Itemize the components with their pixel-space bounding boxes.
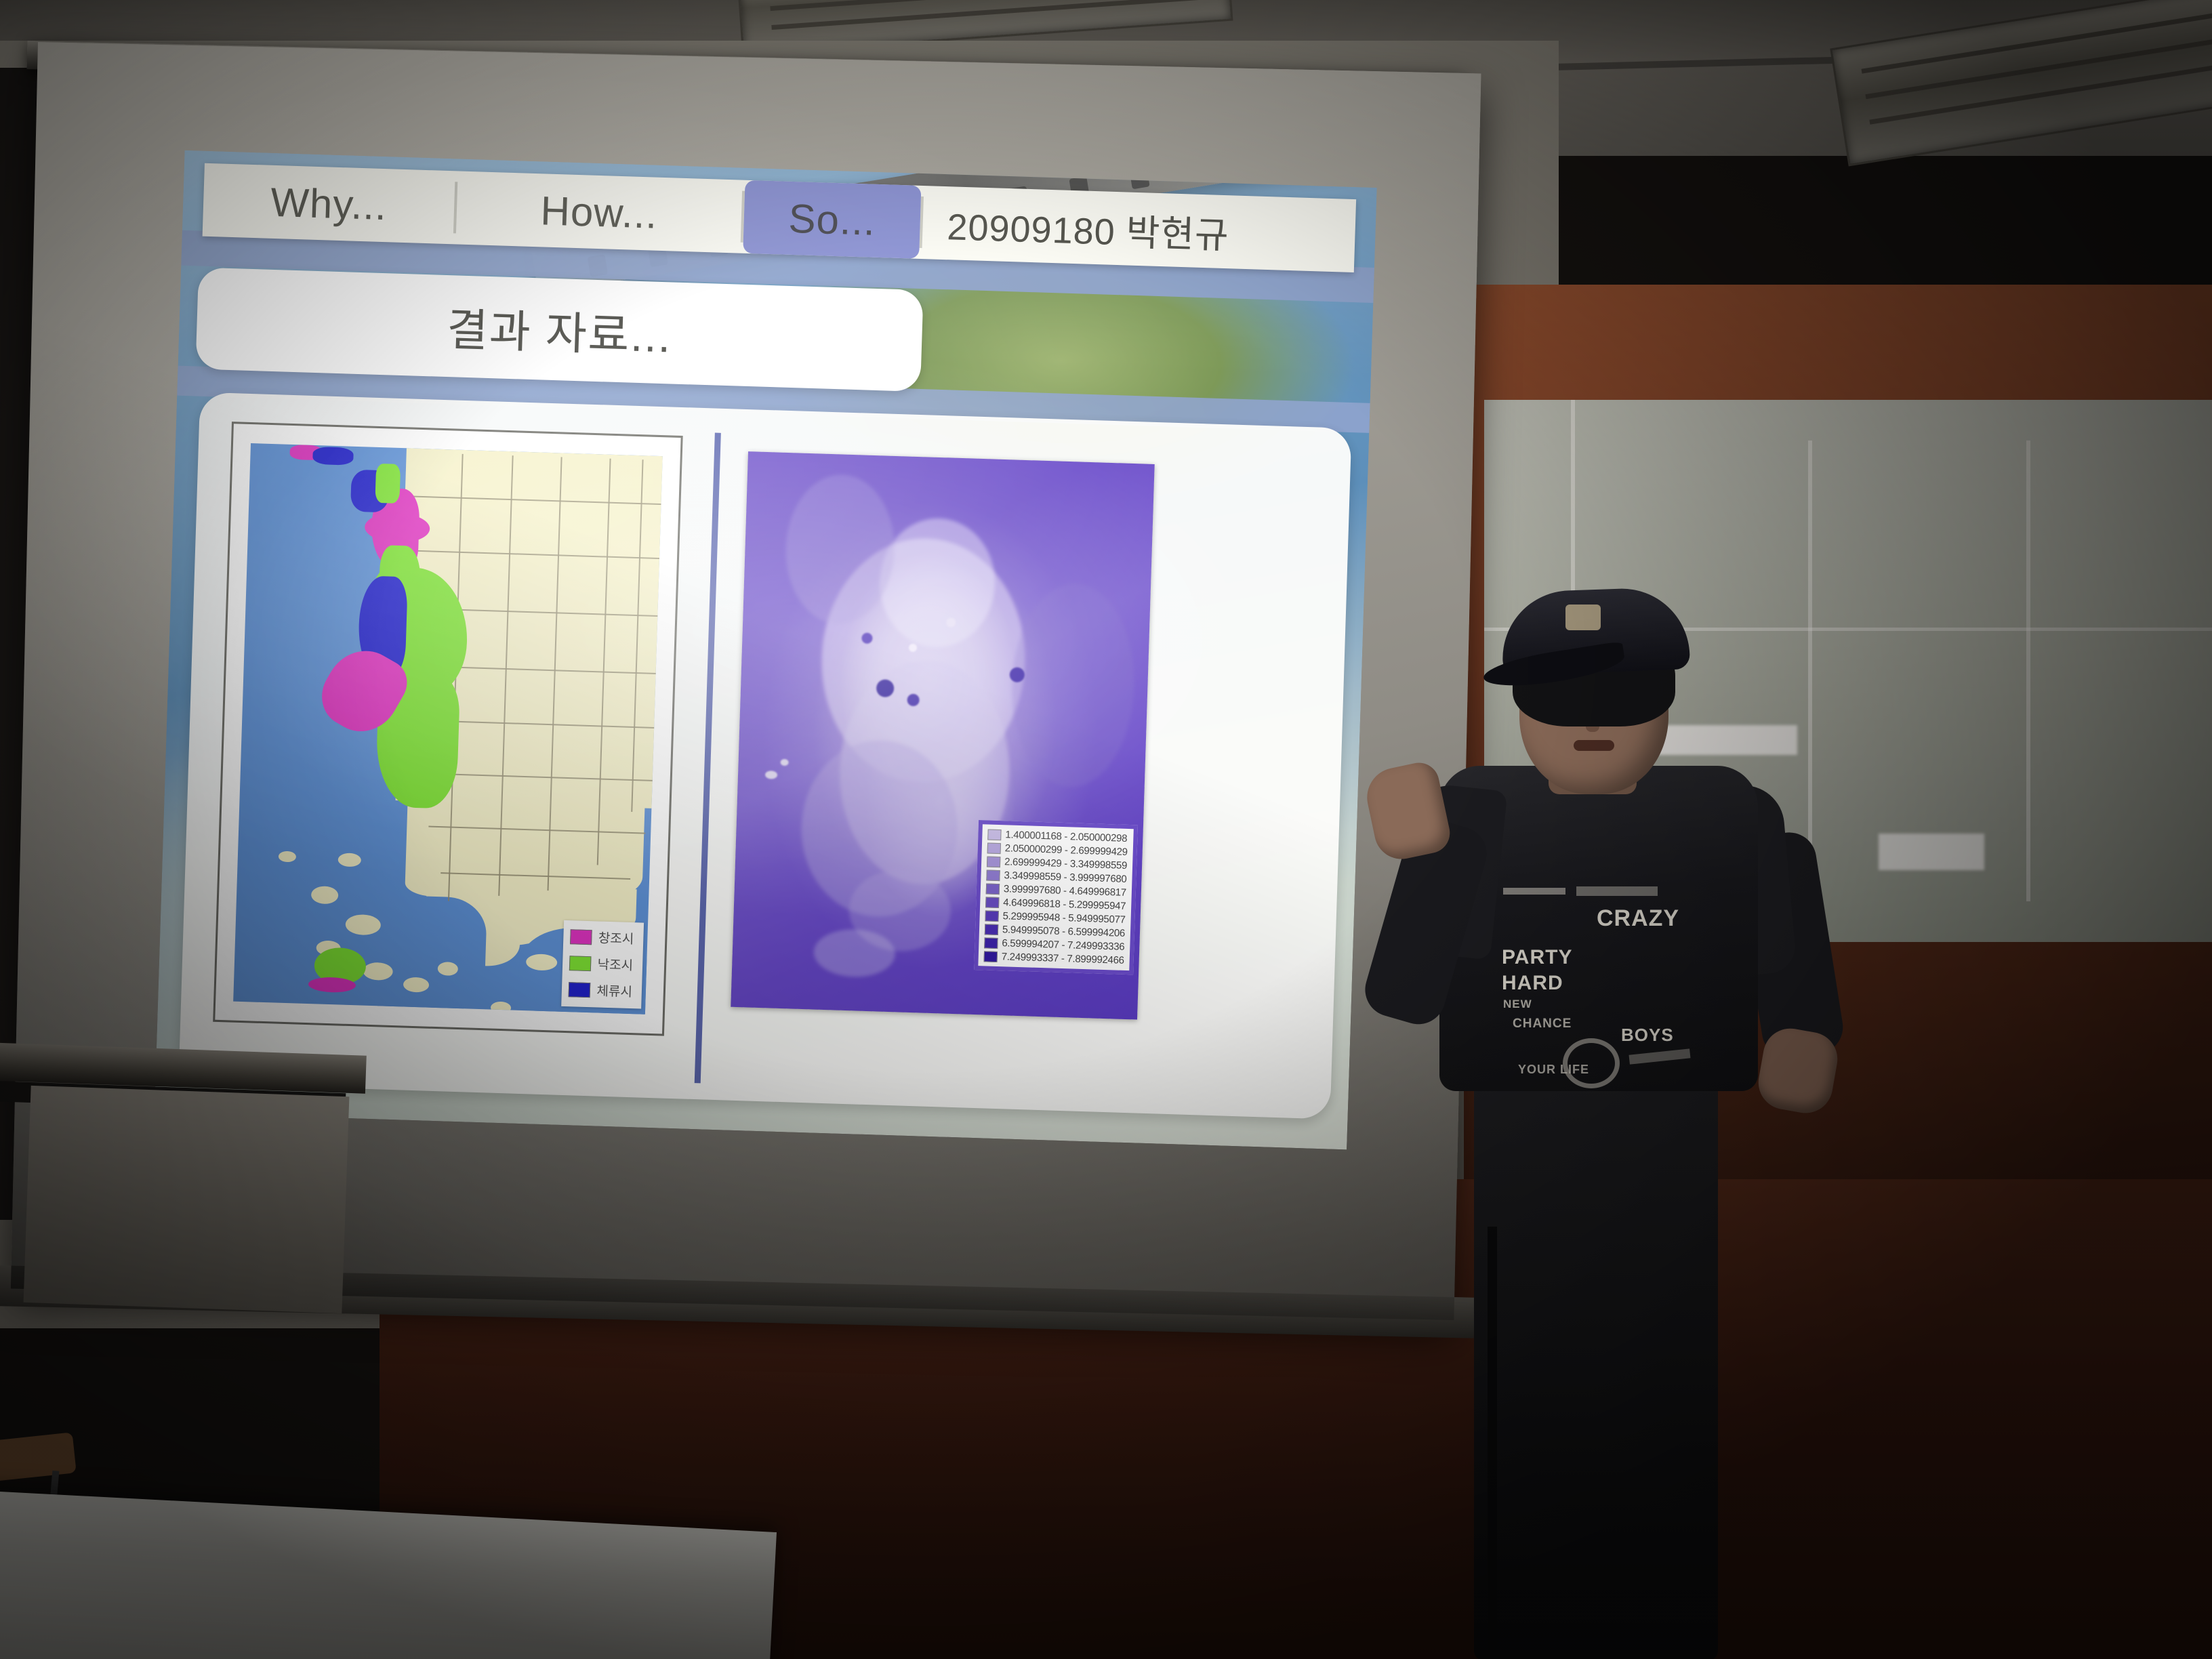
shirt-word-new: NEW [1503, 998, 1532, 1011]
shirt-word-chance: CHANCE [1513, 1017, 1572, 1031]
legend-range: 3.349998559 - 3.999997680 [1004, 869, 1126, 885]
legend-swatch-green [569, 956, 591, 971]
interpolated-raster-map: 1.400001168 - 2.050000298 2.050000299 - … [731, 451, 1154, 1019]
presenter-legs [1474, 1030, 1718, 1659]
presenter-left-hand [1361, 759, 1454, 864]
lecture-room-scene: Why... How... So... 20909180 박현규 결과 자료..… [0, 0, 2212, 1659]
shirt-word-crazy: CRAZY [1597, 905, 1679, 932]
left-map-legend: 창조시 낙조시 체류시 [561, 920, 644, 1009]
legend-item: 5.299995948 - 5.949995077 [985, 909, 1125, 925]
legend-range: 5.949995078 - 6.599994206 [1002, 924, 1125, 939]
glass-mullion [2026, 441, 2030, 901]
legend-label: 체류시 [596, 981, 632, 1000]
legend-item: 2.699999429 - 3.349998559 [987, 855, 1127, 871]
legend-label: 창조시 [598, 928, 634, 948]
legend-item: 2.050000299 - 2.699999429 [987, 842, 1128, 857]
legend-swatch-blue [568, 982, 590, 998]
legend-swatch [984, 937, 998, 949]
legend-swatch [987, 856, 1000, 867]
tshirt-graphic-print: CRAZY PARTY HARD NEW CHANCE BOYS YOUR LI… [1495, 881, 1698, 1084]
legend-item: 1.400001168 - 2.050000298 [987, 828, 1128, 844]
shirt-word-boys: BOYS [1621, 1025, 1674, 1046]
presenter-mouth [1574, 740, 1614, 751]
legend-item: 3.349998559 - 3.999997680 [986, 869, 1126, 884]
slide-author: 20909180 박현규 [922, 186, 1356, 272]
tab-so[interactable]: So... [743, 180, 921, 259]
legend-item: 창조시 [570, 927, 634, 947]
legend-swatch [987, 842, 1001, 854]
legend-range: 2.699999429 - 3.349998559 [1004, 856, 1127, 872]
legend-range: 7.249993337 - 7.899992466 [1002, 951, 1124, 966]
legend-item: 7.249993337 - 7.899992466 [984, 950, 1124, 966]
presenter: CRAZY PARTY HARD NEW CHANCE BOYS YOUR LI… [1369, 562, 1911, 1659]
legend-swatch-magenta [570, 929, 592, 945]
shirt-word-hard: HARD [1502, 972, 1563, 995]
tab-why[interactable]: Why... [203, 163, 455, 245]
tab-how[interactable]: How... [455, 171, 742, 253]
legend-item: 체류시 [568, 980, 632, 1000]
legend-item: 4.649996818 - 5.299995947 [985, 896, 1126, 912]
raster-legend: 1.400001168 - 2.050000298 2.050000299 - … [974, 820, 1138, 975]
legend-swatch [985, 897, 999, 908]
legend-item: 5.949995078 - 6.599994206 [985, 923, 1125, 939]
legend-swatch [986, 883, 1000, 895]
legend-label: 낙조시 [597, 954, 633, 974]
legend-range: 4.649996818 - 5.299995947 [1003, 897, 1126, 912]
legend-item: 낙조시 [569, 954, 633, 974]
left-map-frame: 창조시 낙조시 체류시 [213, 422, 683, 1036]
page-title: 결과 자료... [446, 293, 673, 365]
legend-range: 1.400001168 - 2.050000298 [1005, 829, 1127, 844]
tab-so-label: So... [788, 194, 877, 244]
legend-swatch [984, 951, 998, 962]
presentation-slide: Why... How... So... 20909180 박현규 결과 자료..… [155, 150, 1377, 1150]
legend-swatch [987, 829, 1001, 840]
legend-range: 6.599994207 - 7.249993336 [1002, 937, 1124, 953]
legend-item: 6.599994207 - 7.249993336 [984, 937, 1124, 952]
leg-gap [1488, 1227, 1497, 1659]
korea-coastal-map: 창조시 낙조시 체류시 [233, 443, 663, 1015]
legend-range: 2.050000299 - 2.699999429 [1005, 842, 1128, 858]
legend-swatch [985, 910, 998, 922]
lecture-desk-panel [24, 1086, 350, 1313]
shirt-word-party: PARTY [1502, 946, 1572, 969]
tab-how-label: How... [540, 187, 659, 237]
legend-swatch [985, 924, 998, 935]
chair-seat [0, 1432, 77, 1481]
cap-logo [1565, 605, 1601, 630]
tab-why-label: Why... [270, 178, 388, 228]
legend-range: 5.299995948 - 5.949995077 [1002, 910, 1125, 926]
legend-item: 3.999997680 - 4.649996817 [986, 882, 1126, 898]
legend-range: 3.999997680 - 4.649996817 [1004, 883, 1126, 899]
legend-swatch [986, 869, 1000, 881]
